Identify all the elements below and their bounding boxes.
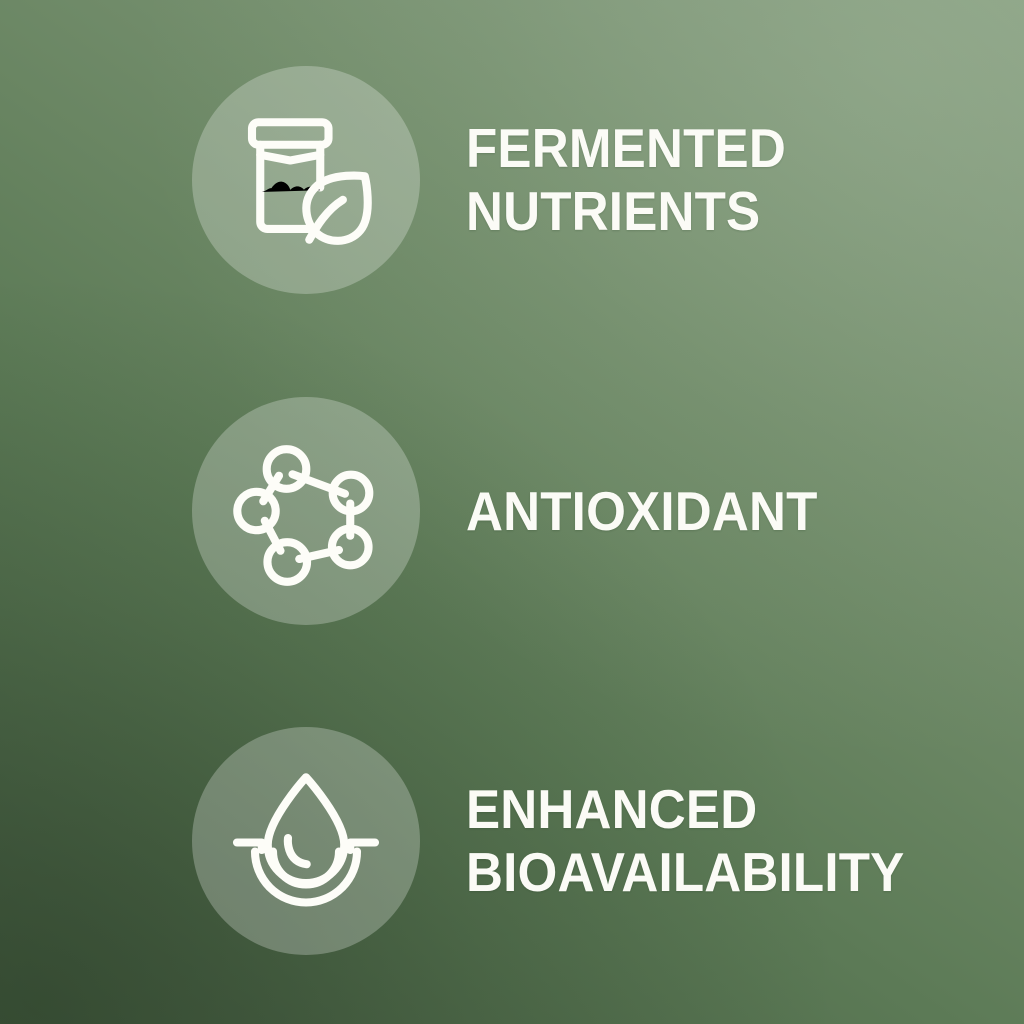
icon-badge-bioavailability (192, 727, 420, 955)
icon-badge-fermented (192, 66, 420, 294)
product-benefits-panel: FERMENTED NUTRIENTS ANTIOXIDANT (0, 0, 1024, 1024)
feature-row: ENHANCED BIOAVAILABILITY (0, 727, 1024, 955)
feature-label-fermented-nutrients: FERMENTED NUTRIENTS (466, 117, 786, 243)
fermented-jar-leaf-icon (231, 105, 381, 255)
antioxidant-molecule-icon (231, 436, 381, 586)
feature-row: ANTIOXIDANT (0, 397, 1024, 625)
icon-badge-antioxidant (192, 397, 420, 625)
feature-row: FERMENTED NUTRIENTS (0, 66, 1024, 294)
bioavailability-droplet-ripple-icon (231, 766, 381, 916)
feature-label-antioxidant: ANTIOXIDANT (466, 480, 818, 543)
feature-label-enhanced-bioavailability: ENHANCED BIOAVAILABILITY (466, 778, 904, 904)
